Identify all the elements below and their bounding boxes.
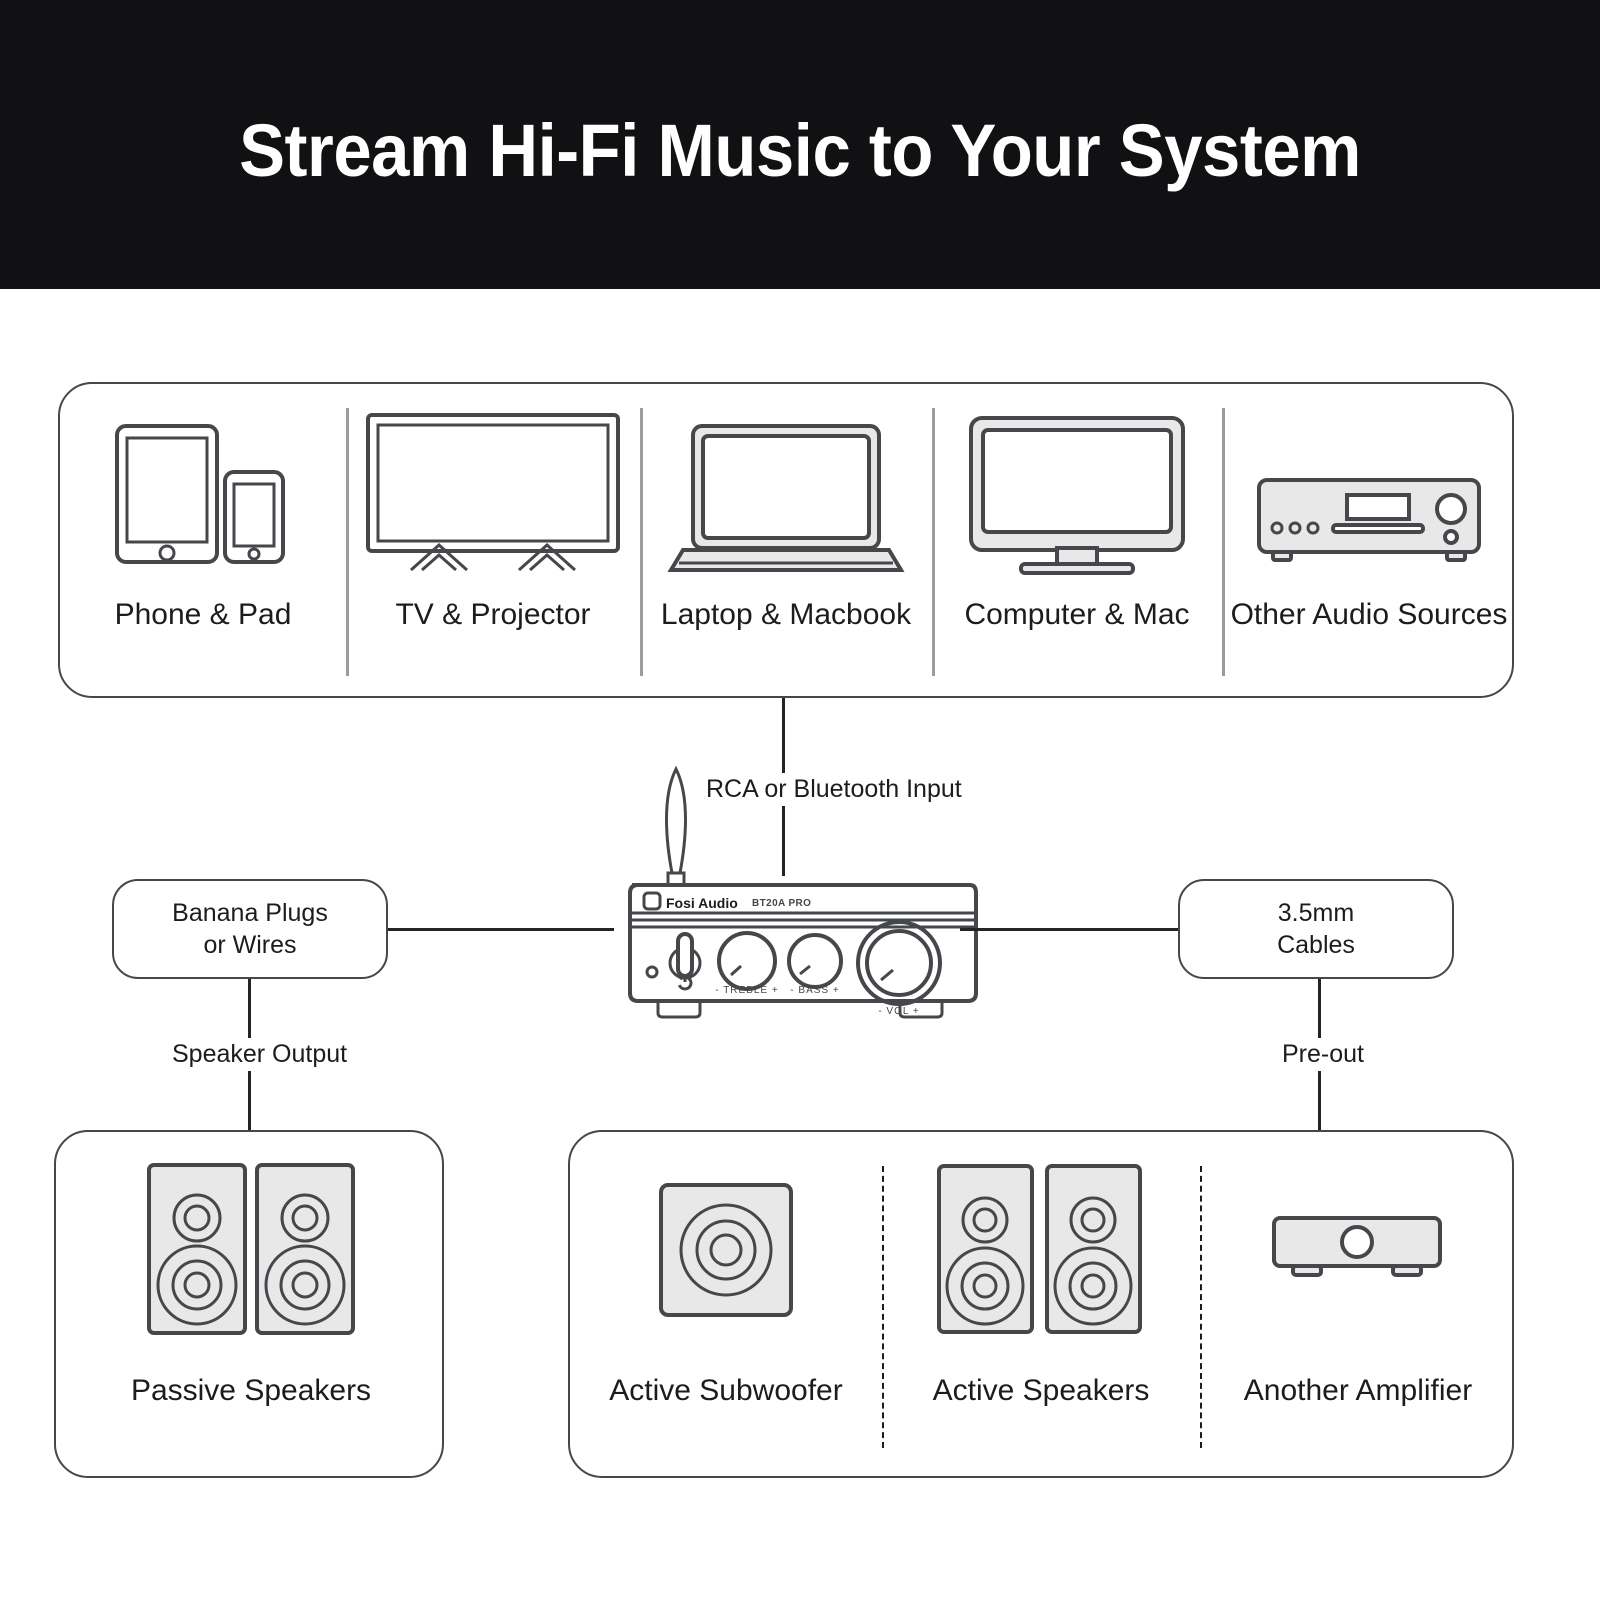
source-item-tv-projector[interactable]: TV & Projector xyxy=(346,384,640,700)
source-label: Phone & Pad xyxy=(115,598,292,632)
output-item-another-amplifier[interactable]: Another Amplifier xyxy=(1200,1132,1516,1480)
active-speaker-pair-icon xyxy=(935,1132,1147,1368)
output-label: Active Speakers xyxy=(933,1374,1150,1408)
bluetooth-antenna-icon xyxy=(667,769,686,885)
banana-plugs-box[interactable]: Banana Plugs or Wires xyxy=(112,879,388,979)
amp-model-label: BT20A PRO xyxy=(752,898,811,909)
amplifier-unit[interactable]: Fosi Audio BT20A PRO - TREBLE + - BASS +… xyxy=(600,745,1000,1035)
passive-speaker-pair-icon xyxy=(145,1132,357,1368)
output-item-active-speakers[interactable]: Active Speakers xyxy=(882,1132,1200,1480)
connector-label-pre-out: Pre-out xyxy=(1276,1038,1370,1071)
source-label: Computer & Mac xyxy=(964,598,1189,632)
output-label: Active Subwoofer xyxy=(609,1374,842,1408)
subwoofer-icon xyxy=(658,1132,794,1368)
power-symbol-icon xyxy=(679,975,691,989)
output-item-passive-speakers[interactable]: Passive Speakers xyxy=(56,1132,446,1480)
header-banner: Stream Hi-Fi Music to Your System xyxy=(0,0,1600,289)
treble-knob xyxy=(719,933,775,989)
hifi-component-icon xyxy=(1255,384,1483,580)
page-title: Stream Hi-Fi Music to Your System xyxy=(56,108,1544,193)
laptop-icon xyxy=(671,384,901,580)
connector-label-speaker-output: Speaker Output xyxy=(166,1038,353,1071)
volume-knob xyxy=(858,922,940,1004)
led-indicator-icon xyxy=(647,967,657,977)
passive-speakers-panel: Passive Speakers xyxy=(54,1130,444,1478)
source-item-other-audio-sources[interactable]: Other Audio Sources xyxy=(1222,384,1516,700)
source-label: Other Audio Sources xyxy=(1231,598,1508,632)
banana-plugs-line-1: Banana Plugs xyxy=(172,899,328,927)
television-icon xyxy=(365,384,621,580)
source-item-computer-mac[interactable]: Computer & Mac xyxy=(932,384,1222,700)
bass-knob xyxy=(789,935,841,987)
output-label: Passive Speakers xyxy=(131,1374,371,1408)
source-item-laptop-macbook[interactable]: Laptop & Macbook xyxy=(640,384,932,700)
volume-knob-label: - VOL + xyxy=(859,1006,939,1017)
desktop-monitor-icon xyxy=(967,384,1187,580)
amplifier-box-icon xyxy=(1271,1132,1445,1368)
aux-cables-line-2: Cables xyxy=(1277,931,1355,959)
source-label: Laptop & Macbook xyxy=(661,598,911,632)
audio-sources-panel: Phone & Pad TV & Projector Laptop xyxy=(58,382,1514,698)
tablet-and-phone-icon xyxy=(113,384,293,580)
connector-amp-to-aux-cables xyxy=(960,928,1178,931)
banana-plugs-line-2: or Wires xyxy=(203,931,296,959)
source-label: TV & Projector xyxy=(395,598,590,632)
output-item-active-subwoofer[interactable]: Active Subwoofer xyxy=(570,1132,882,1480)
bass-knob-label: - BASS + xyxy=(775,985,855,996)
fosi-audio-logo-icon xyxy=(644,893,660,909)
power-toggle-switch-icon xyxy=(670,934,700,978)
outputs-panel: Active Subwoofer Active Speakers xyxy=(568,1130,1514,1478)
source-item-phone-pad[interactable]: Phone & Pad xyxy=(60,384,346,700)
aux-cables-line-1: 3.5mm xyxy=(1278,899,1354,927)
amp-brand-label: Fosi Audio xyxy=(666,895,738,911)
output-label: Another Amplifier xyxy=(1244,1374,1472,1408)
connector-amp-to-banana-plugs xyxy=(388,928,614,931)
aux-cables-box[interactable]: 3.5mm Cables xyxy=(1178,879,1454,979)
